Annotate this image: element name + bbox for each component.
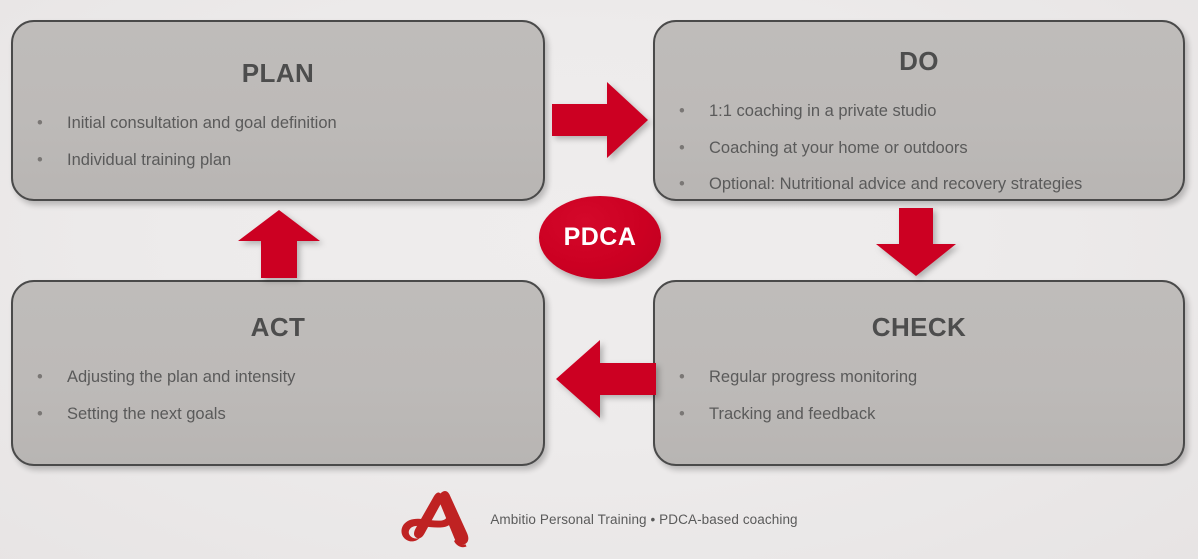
bullet-glyph: • xyxy=(37,113,43,134)
phase-box-plan[interactable]: PLAN • Initial consultation and goal def… xyxy=(11,20,545,201)
list-item-text: Optional: Nutritional advice and recover… xyxy=(709,175,1082,193)
phase-title-plan: PLAN xyxy=(13,60,543,86)
list-item: • Optional: Nutritional advice and recov… xyxy=(655,174,1183,195)
list-item-text: Setting the next goals xyxy=(67,405,226,423)
phase-bullets-plan: • Initial consultation and goal definiti… xyxy=(13,113,543,170)
phase-title-check: CHECK xyxy=(655,314,1183,340)
phase-box-do[interactable]: DO • 1:1 coaching in a private studio • … xyxy=(653,20,1185,201)
bullet-glyph: • xyxy=(679,138,685,159)
arrow-left-icon xyxy=(556,340,656,418)
list-item-text: Individual training plan xyxy=(67,151,231,169)
pdca-center-ellipse[interactable]: PDCA xyxy=(539,196,661,279)
list-item: • Coaching at your home or outdoors xyxy=(655,138,1183,159)
list-item-text: Tracking and feedback xyxy=(709,405,875,423)
ambitio-a-logo-icon xyxy=(400,489,476,549)
arrow-up-icon xyxy=(238,210,320,278)
list-item: • Setting the next goals xyxy=(13,404,543,425)
bullet-glyph: • xyxy=(37,150,43,171)
phase-box-act[interactable]: ACT • Adjusting the plan and intensity •… xyxy=(11,280,545,466)
bullet-glyph: • xyxy=(37,367,43,388)
list-item: • 1:1 coaching in a private studio xyxy=(655,101,1183,122)
list-item: • Adjusting the plan and intensity xyxy=(13,367,543,388)
bullet-glyph: • xyxy=(679,404,685,425)
list-item-text: Initial consultation and goal definition xyxy=(67,114,337,132)
bullet-glyph: • xyxy=(679,101,685,122)
bullet-glyph: • xyxy=(679,174,685,195)
list-item-text: Regular progress monitoring xyxy=(709,368,917,386)
list-item-text: Coaching at your home or outdoors xyxy=(709,139,968,157)
phase-bullets-do: • 1:1 coaching in a private studio • Coa… xyxy=(655,101,1183,195)
arrow-right-icon xyxy=(552,82,648,158)
arrow-down-icon xyxy=(876,208,956,276)
list-item-text: Adjusting the plan and intensity xyxy=(67,368,295,386)
pdca-diagram-canvas: PLAN • Initial consultation and goal def… xyxy=(0,0,1198,559)
phase-bullets-check: • Regular progress monitoring • Tracking… xyxy=(655,367,1183,424)
list-item: • Initial consultation and goal definiti… xyxy=(13,113,543,134)
list-item: • Regular progress monitoring xyxy=(655,367,1183,388)
phase-bullets-act: • Adjusting the plan and intensity • Set… xyxy=(13,367,543,424)
footer: Ambitio Personal Training • PDCA-based c… xyxy=(0,484,1198,554)
footer-caption: Ambitio Personal Training • PDCA-based c… xyxy=(490,512,797,527)
bullet-glyph: • xyxy=(37,404,43,425)
list-item-text: 1:1 coaching in a private studio xyxy=(709,102,936,120)
phase-title-do: DO xyxy=(655,48,1183,74)
bullet-glyph: • xyxy=(679,367,685,388)
phase-title-act: ACT xyxy=(13,314,543,340)
phase-box-check[interactable]: CHECK • Regular progress monitoring • Tr… xyxy=(653,280,1185,466)
list-item: • Individual training plan xyxy=(13,150,543,171)
list-item: • Tracking and feedback xyxy=(655,404,1183,425)
pdca-center-label: PDCA xyxy=(564,223,637,252)
